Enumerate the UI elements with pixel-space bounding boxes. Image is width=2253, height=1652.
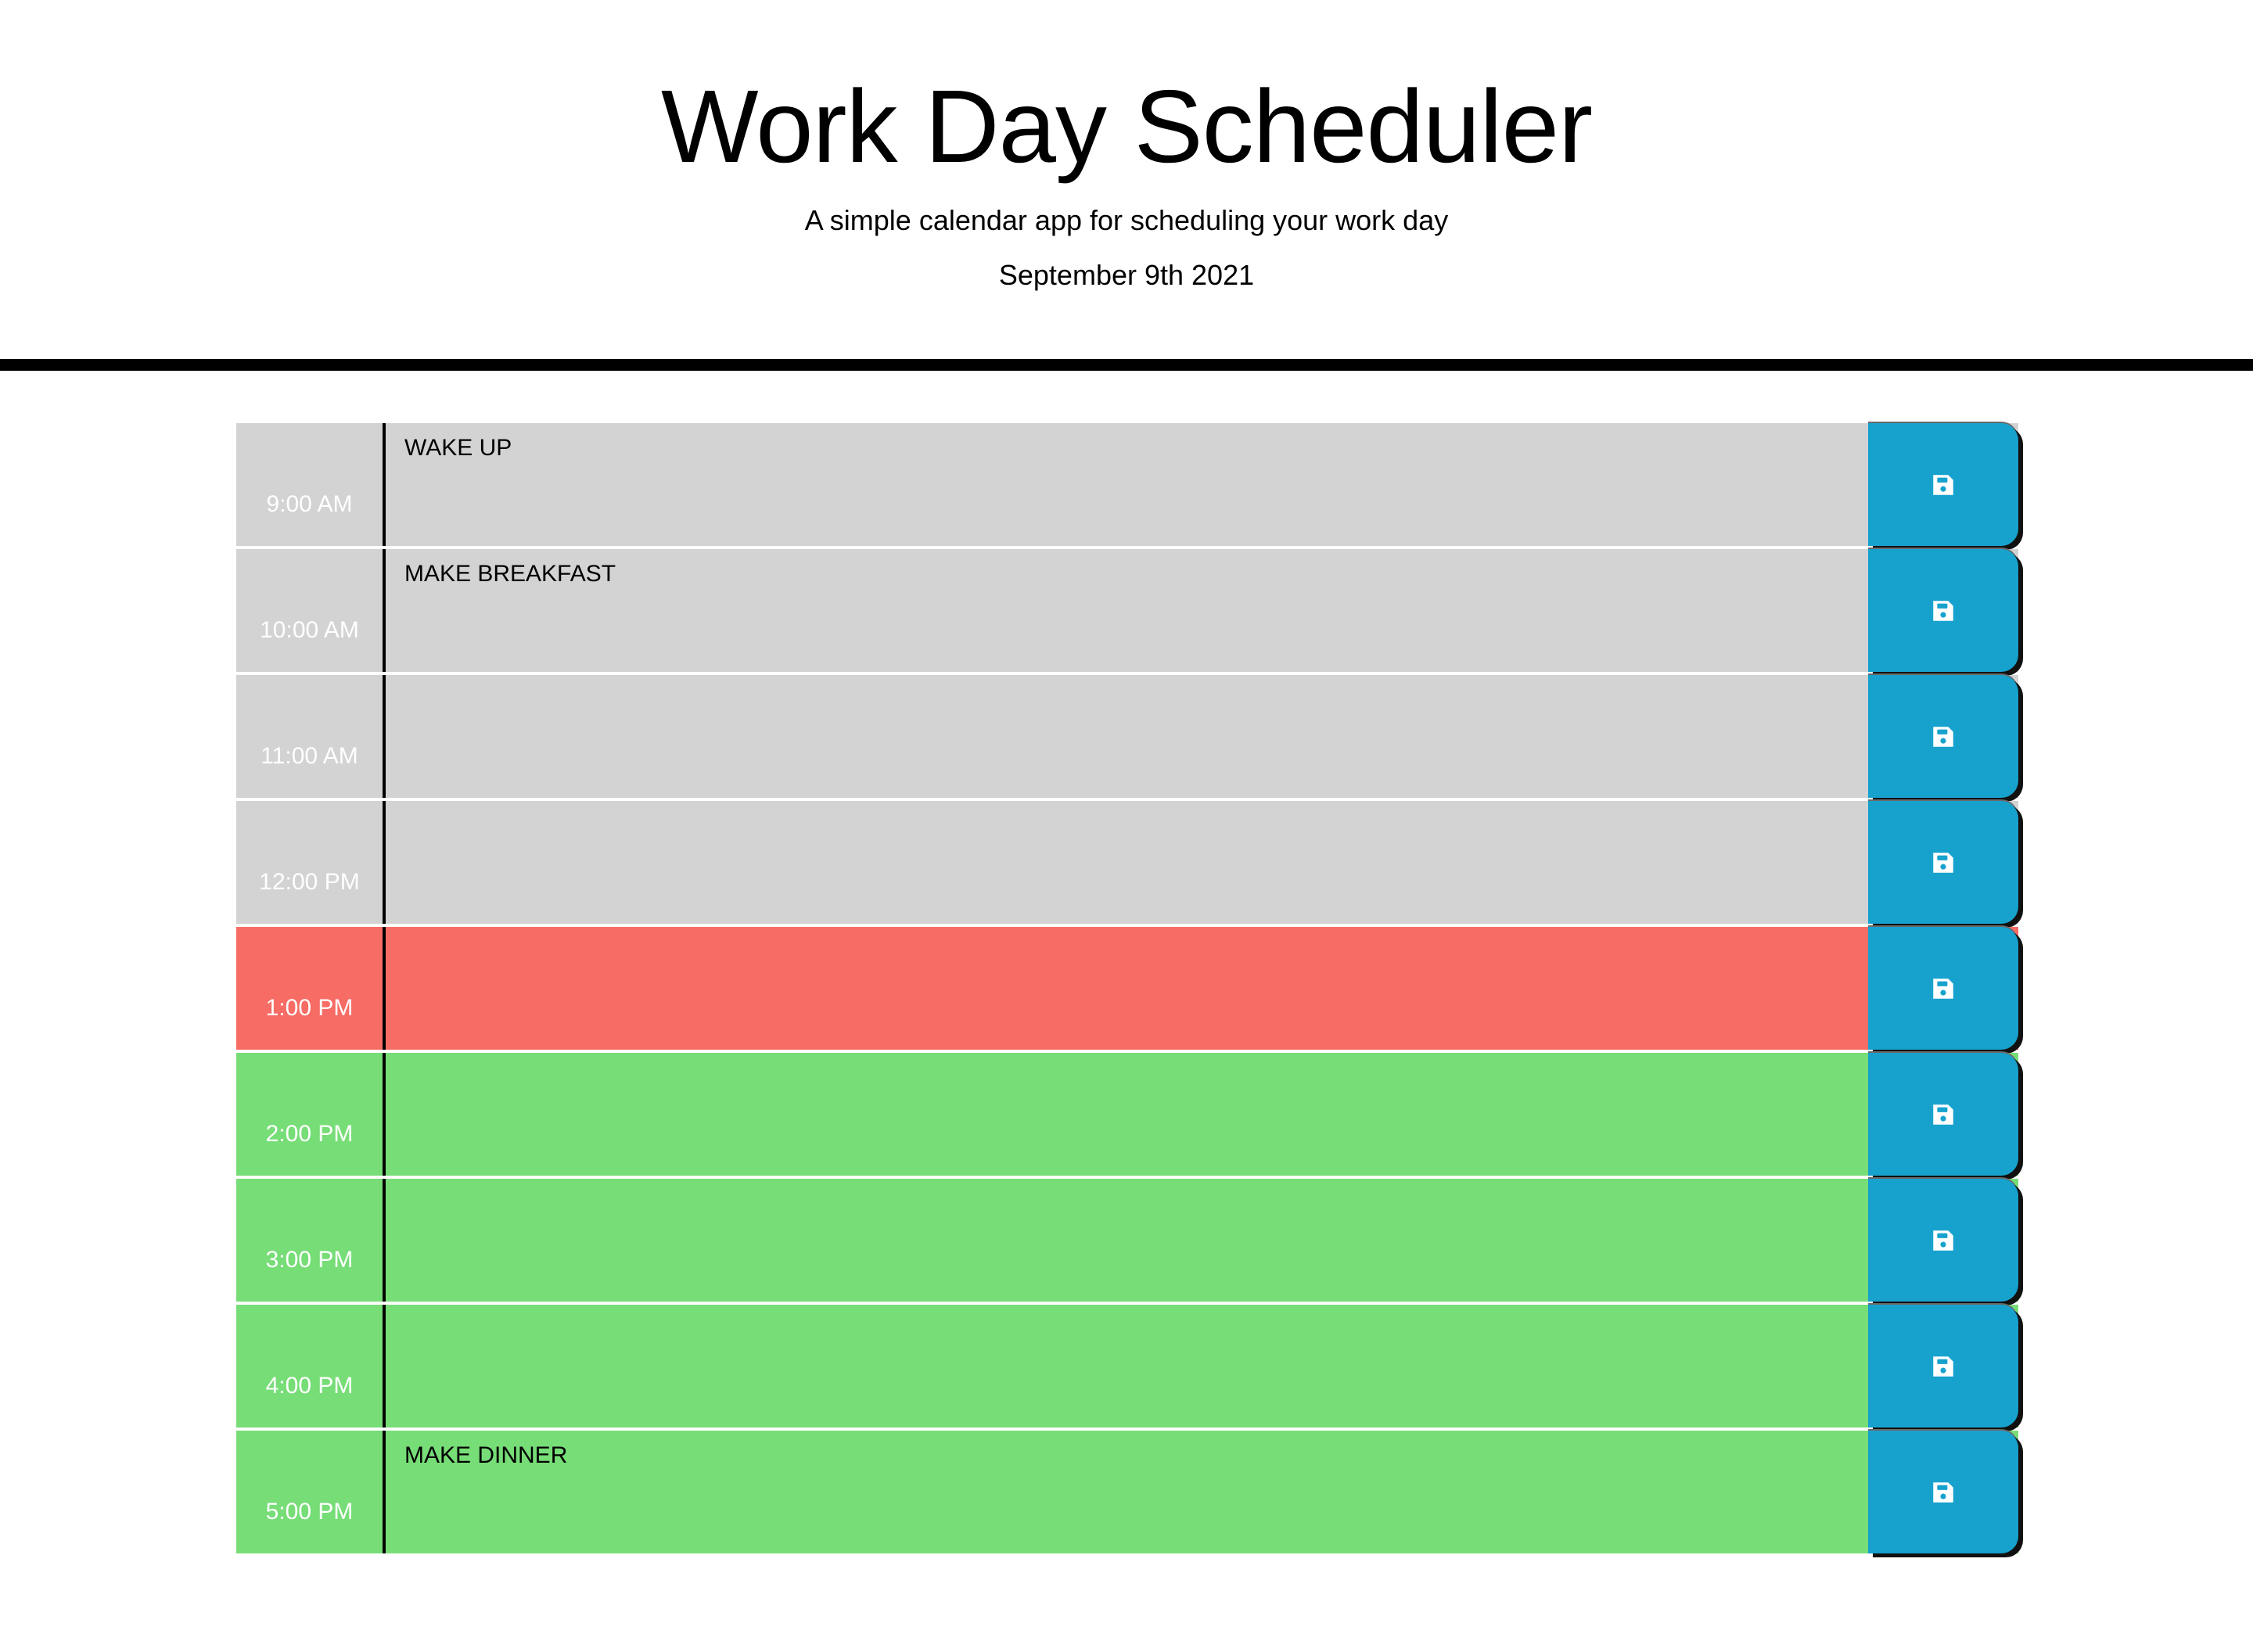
hour-label: 11:00 AM <box>236 675 386 798</box>
save-button[interactable] <box>1868 675 2018 798</box>
hour-label: 1:00 PM <box>236 927 386 1050</box>
time-block: 10:00 AM <box>236 549 2018 672</box>
main-content: 9:00 AM10:00 AM11:00 AM12:00 PM1:00 PM2:… <box>0 371 2253 1553</box>
save-floppy-icon <box>1930 1479 1957 1506</box>
time-block: 5:00 PM <box>236 1431 2018 1553</box>
schedule-list: 9:00 AM10:00 AM11:00 AM12:00 PM1:00 PM2:… <box>236 371 2018 1553</box>
save-button[interactable] <box>1868 1431 2018 1553</box>
save-button[interactable] <box>1868 1305 2018 1428</box>
save-button[interactable] <box>1868 1179 2018 1302</box>
time-block: 1:00 PM <box>236 927 2018 1050</box>
page-title: Work Day Scheduler <box>0 75 2253 178</box>
event-description-input[interactable] <box>386 423 1863 546</box>
save-floppy-icon <box>1930 849 1957 876</box>
time-block: 11:00 AM <box>236 675 2018 798</box>
save-floppy-icon <box>1930 975 1957 1002</box>
event-description-input[interactable] <box>386 801 1863 924</box>
hour-label: 5:00 PM <box>236 1431 386 1553</box>
hour-label: 9:00 AM <box>236 423 386 546</box>
page-header: Work Day Scheduler A simple calendar app… <box>0 0 2253 371</box>
event-description-input[interactable] <box>386 927 1863 1050</box>
save-floppy-icon <box>1930 472 1957 498</box>
hour-label: 3:00 PM <box>236 1179 386 1302</box>
event-description-input[interactable] <box>386 1053 1863 1176</box>
page-subtitle: A simple calendar app for scheduling you… <box>0 178 2253 236</box>
event-description-input[interactable] <box>386 1179 1863 1302</box>
time-block: 12:00 PM <box>236 801 2018 924</box>
save-floppy-icon <box>1930 1101 1957 1128</box>
event-description-input[interactable] <box>386 549 1863 672</box>
save-button[interactable] <box>1868 423 2018 546</box>
hour-label: 10:00 AM <box>236 549 386 672</box>
time-block: 2:00 PM <box>236 1053 2018 1176</box>
current-date: September 9th 2021 <box>0 236 2253 291</box>
save-button[interactable] <box>1868 801 2018 924</box>
event-description-input[interactable] <box>386 1431 1863 1553</box>
event-description-input[interactable] <box>386 1305 1863 1428</box>
time-block: 9:00 AM <box>236 423 2018 546</box>
save-floppy-icon <box>1930 1227 1957 1254</box>
hour-label: 4:00 PM <box>236 1305 386 1428</box>
save-floppy-icon <box>1930 1353 1957 1380</box>
save-button[interactable] <box>1868 549 2018 672</box>
time-block: 4:00 PM <box>236 1305 2018 1428</box>
time-block: 3:00 PM <box>236 1179 2018 1302</box>
save-button[interactable] <box>1868 927 2018 1050</box>
save-button[interactable] <box>1868 1053 2018 1176</box>
hour-label: 12:00 PM <box>236 801 386 924</box>
save-floppy-icon <box>1930 598 1957 624</box>
hour-label: 2:00 PM <box>236 1053 386 1176</box>
event-description-input[interactable] <box>386 675 1863 798</box>
save-floppy-icon <box>1930 724 1957 750</box>
